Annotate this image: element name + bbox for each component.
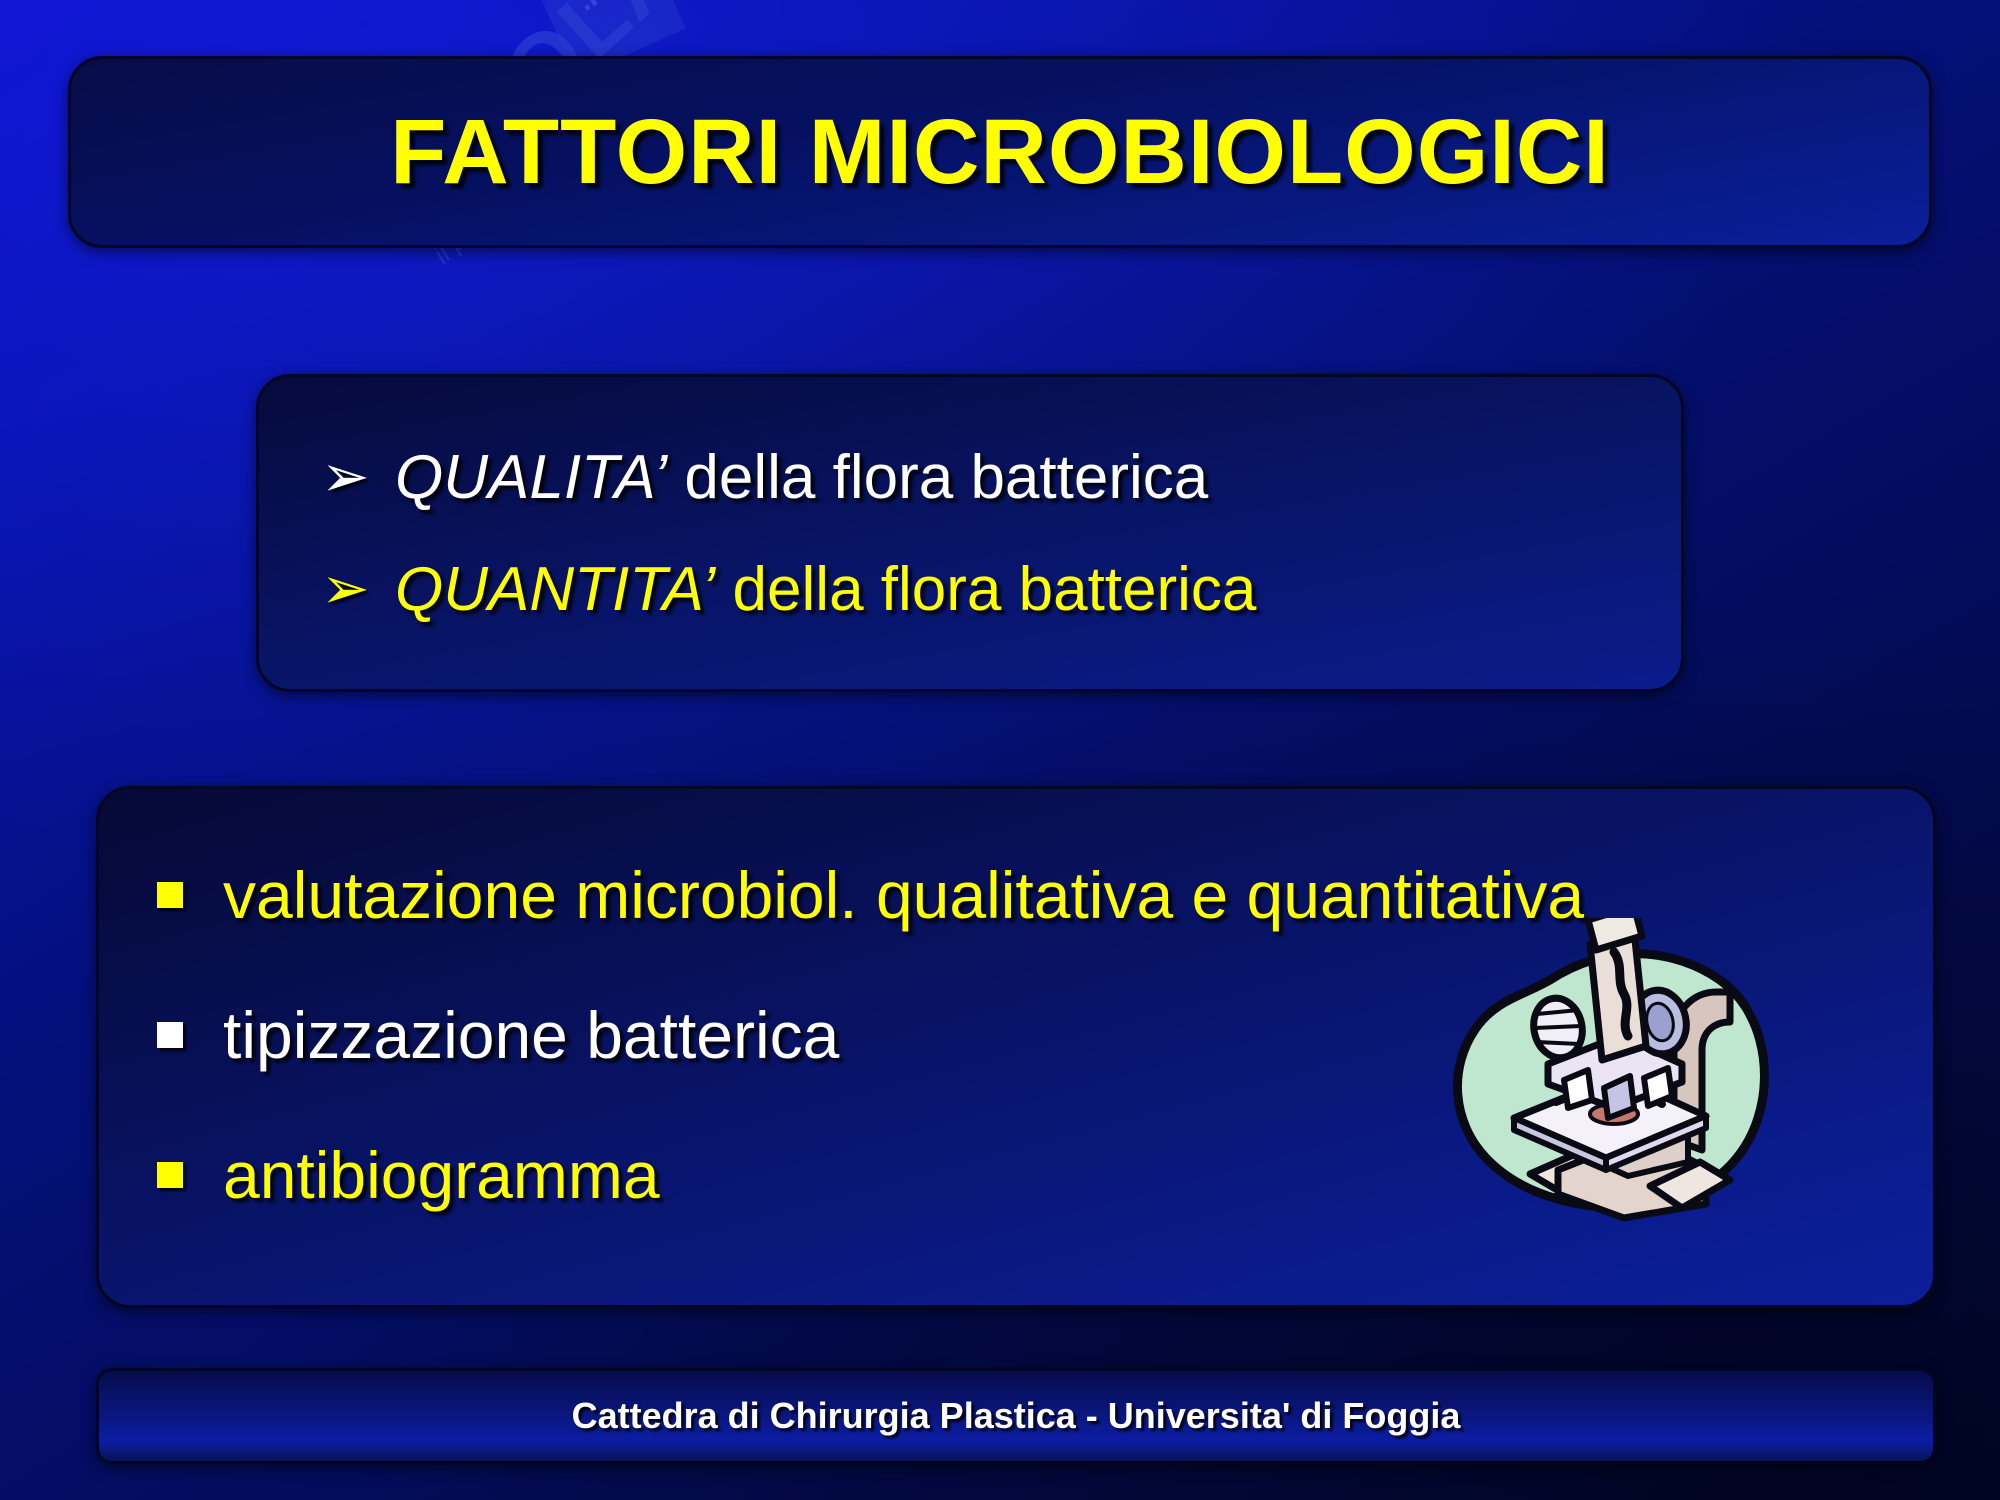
list-item: ➢ QUALITA’ della flora batterica: [259, 421, 1681, 533]
arrow-bullet-icon: ➢: [321, 560, 395, 618]
square-bullet-icon: [157, 882, 223, 908]
method-item-label: antibiogramma: [223, 1137, 660, 1213]
slide-footer-panel: Cattedra di Chirurgia Plastica - Univers…: [96, 1368, 1936, 1464]
method-item-label: tipizzazione batterica: [223, 997, 839, 1073]
quantity-item-emphasis: QUANTITA’: [395, 555, 715, 624]
quality-quantity-panel: ➢ QUALITA’ della flora batterica ➢ QUANT…: [256, 374, 1684, 692]
list-item: ➢ QUANTITA’ della flora batterica: [259, 533, 1681, 645]
quantity-item-text: QUANTITA’ della flora batterica: [395, 554, 1256, 625]
footer-text: Cattedra di Chirurgia Plastica - Univers…: [572, 1395, 1461, 1437]
slide-title-panel: FATTORI MICROBIOLOGICI: [68, 56, 1932, 248]
quality-item-emphasis: QUALITA’: [395, 443, 667, 512]
quality-item-text: QUALITA’ della flora batterica: [395, 442, 1208, 513]
quality-item-rest: della flora batterica: [667, 443, 1208, 512]
slide-title: FATTORI MICROBIOLOGICI: [390, 100, 1610, 205]
microscope-icon: [1438, 918, 1778, 1248]
watermark-badge-label: .net: [543, 0, 663, 36]
arrow-bullet-icon: ➢: [321, 448, 395, 506]
square-bullet-icon: [157, 1162, 223, 1188]
method-item-label: valutazione microbiol. qualitativa e qua…: [223, 857, 1584, 933]
quantity-item-rest: della flora batterica: [715, 555, 1256, 624]
presentation-slide: SKUOLA il paradiso dello studente .net F…: [0, 0, 2000, 1500]
square-bullet-icon: [157, 1022, 223, 1048]
